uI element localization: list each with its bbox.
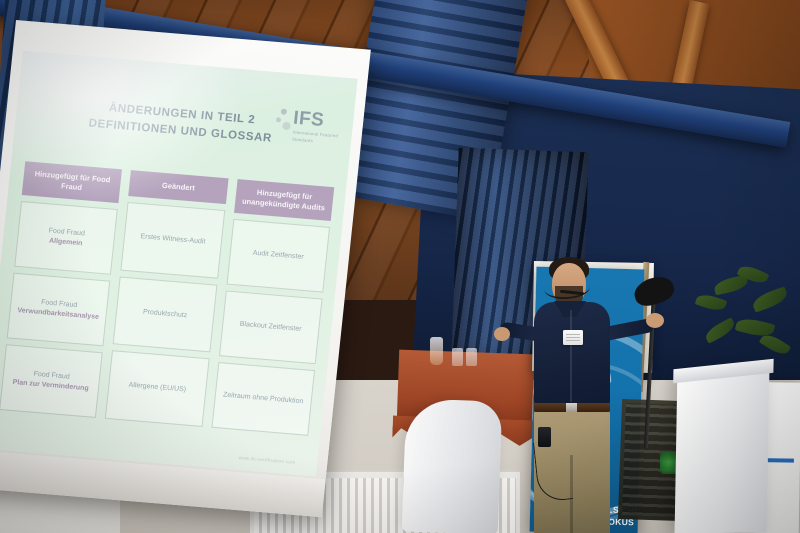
slide-column: Geändert Erstes Witness-Audit Produktsch… [105,170,228,427]
column-cell: Erstes Witness-Audit [121,202,225,278]
screen-surface: ÄNDERUNGEN IN TEIL 2 DEFINITIONEN UND GL… [0,20,371,517]
cell-line-1: Food Fraud [33,370,70,380]
presentation-slide: ÄNDERUNGEN IN TEIL 2 DEFINITIONEN UND GL… [0,51,358,477]
slide-column: Hinzugefügt für Food Fraud Food Fraud Al… [0,161,122,418]
cell-line-1: Audit Zeitfenster [252,249,304,264]
column-cell: Food Fraud Verwundbarkeitsanalyse [7,273,111,347]
water-carafe [430,337,443,365]
drinking-glass [452,348,463,366]
column-header: Hinzugefügt für Food Fraud [22,161,123,203]
cell-line-2: Verwundbarkeitsanalyse [17,306,100,323]
cell-line-1: Food Fraud [48,227,85,237]
ifs-logo: IFS International Featured Standards [278,106,340,111]
cell-line-1: Food Fraud [41,299,78,309]
cell-line-2: Allgemein [47,237,84,250]
plant-leaf [703,317,737,344]
column-cell: Audit Zeitfenster [226,219,330,293]
column-cell: Zeitraum ohne Produktion [211,362,315,436]
cell-line-1: Zeitraum ohne Produktion [222,390,303,407]
column-cell: Food Fraud Allgemein [14,201,118,275]
headset-microphone-icon [543,275,590,300]
drinking-glass [466,348,477,366]
plant-leaf [695,292,728,314]
presentation-room-photo: gemeinnützige Lebensmittelinitiative Öst… [0,0,800,533]
name-badge [563,330,583,345]
presenter-left-hand [494,327,510,341]
belt-buckle [566,403,577,412]
plant-leaf [751,286,790,312]
plant-leaf [759,331,791,358]
cell-line-2: Plan zur Verminderung [12,378,89,395]
cell-line-1: Blackout Zeitfenster [239,320,302,336]
column-header: Geändert [129,170,229,204]
presenter [500,255,690,533]
column-header: Hinzugefügt für unangekündigte Audits [234,179,335,221]
ifs-dots-icon [274,108,293,135]
column-cell: Produktschutz [113,276,217,352]
cell-line-1: Erstes Witness-Audit [140,232,206,248]
cell-line-1: Produktschutz [142,307,187,321]
covered-chair [402,398,503,533]
shirt-placket [570,310,572,402]
ifs-logo-mark: IFS [292,108,325,132]
presenter-right-hand [646,313,664,328]
slide-footer: www.ifs-certification.com [238,455,295,465]
projection-screen: ÄNDERUNGEN IN TEIL 2 DEFINITIONEN UND GL… [0,20,371,517]
presenter-shirt [534,302,610,407]
column-cell: Blackout Zeitfenster [219,291,323,365]
column-cell: Food Fraud Plan zur Verminderung [0,344,103,418]
column-cell: Allergene (EU/US) [105,350,209,426]
slide-title: ÄNDERUNGEN IN TEIL 2 DEFINITIONEN UND GL… [55,96,308,150]
slide-columns: Hinzugefügt für Food Fraud Food Fraud Al… [0,161,334,436]
slide-column: Hinzugefügt für unangekündigte Audits Au… [211,179,334,436]
cell-line-1: Allergene (EU/US) [128,381,186,396]
